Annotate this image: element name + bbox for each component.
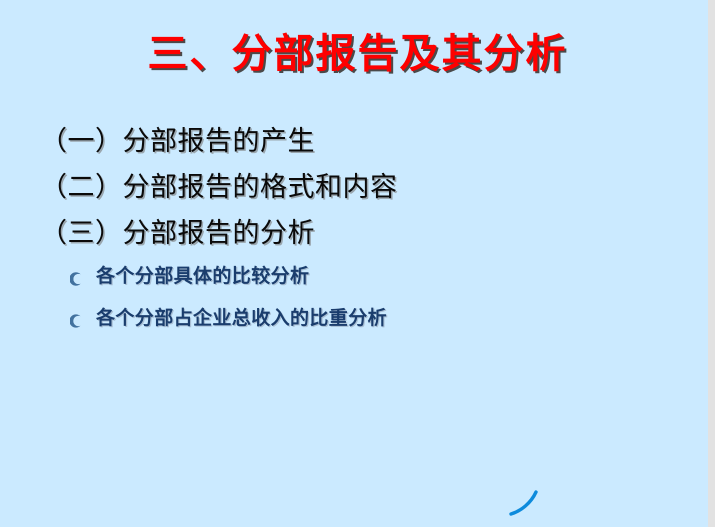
crescent-bullet-icon (68, 309, 90, 329)
presentation-slide: 三、分部报告及其分析 （一）分部报告的产生 （二）分部报告的格式和内容 （三）分… (0, 0, 715, 527)
outline-level1-item: （二）分部报告的格式和内容 (40, 164, 680, 210)
outline-level2-label: 各个分部具体的比较分析 (96, 256, 309, 298)
outline-level1-item: （一）分部报告的产生 (40, 118, 680, 164)
outline-level2-label: 各个分部占企业总收入的比重分析 (96, 298, 387, 340)
slide-right-edge-strip (708, 0, 715, 527)
crescent-bullet-icon (68, 267, 90, 287)
slide-title: 三、分部报告及其分析 (0, 30, 715, 78)
blue-swoosh-icon (505, 484, 551, 520)
outline-level2-item: 各个分部具体的比较分析 (68, 256, 680, 298)
outline-level1-item: （三）分部报告的分析 (40, 210, 680, 256)
outline-level2-item: 各个分部占企业总收入的比重分析 (68, 298, 680, 340)
slide-body-outline: （一）分部报告的产生 （二）分部报告的格式和内容 （三）分部报告的分析 各个分部… (40, 118, 680, 340)
